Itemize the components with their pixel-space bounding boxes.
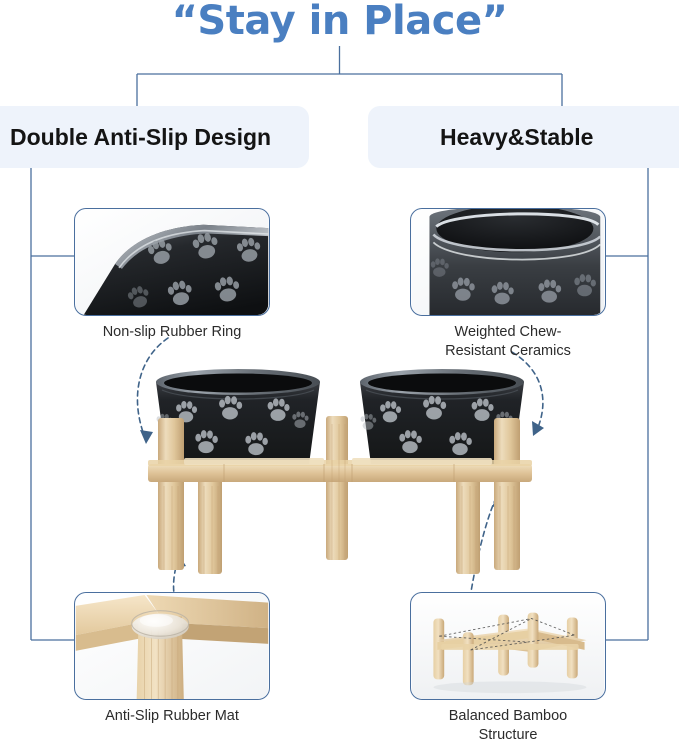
header-pill-double-anti-slip[interactable]: Double Anti-Slip Design [0, 106, 309, 168]
hero-product-image [128, 360, 552, 582]
bowl-interior-illustration [411, 209, 605, 315]
header-pill-label: Heavy&Stable [368, 124, 679, 151]
feature-photo-anti-slip-rubber-mat [74, 592, 270, 700]
feature-photo-weighted-ceramics [410, 208, 606, 316]
caption-anti-slip-rubber-mat: Anti-Slip Rubber Mat [44, 707, 300, 726]
header-pill-label: Double Anti-Slip Design [0, 124, 309, 151]
caption-balanced-bamboo-structure: Balanced Bamboo Structure [380, 707, 636, 744]
infographic-canvas: “Stay in Place” [0, 0, 679, 742]
feature-photo-balanced-bamboo-structure [410, 592, 606, 700]
bamboo-stand-balance-illustration [411, 593, 605, 699]
feature-photo-non-slip-rubber-ring [74, 208, 270, 316]
header-pill-heavy-stable[interactable]: Heavy&Stable [368, 106, 679, 168]
bamboo-leg-rubber-pad-illustration [75, 593, 269, 699]
caption-weighted-ceramics: Weighted Chew- Resistant Ceramics [380, 323, 636, 360]
bowl-rim-illustration [75, 209, 269, 315]
caption-non-slip-rubber-ring: Non-slip Rubber Ring [44, 323, 300, 342]
page-title: “Stay in Place” [0, 0, 679, 44]
